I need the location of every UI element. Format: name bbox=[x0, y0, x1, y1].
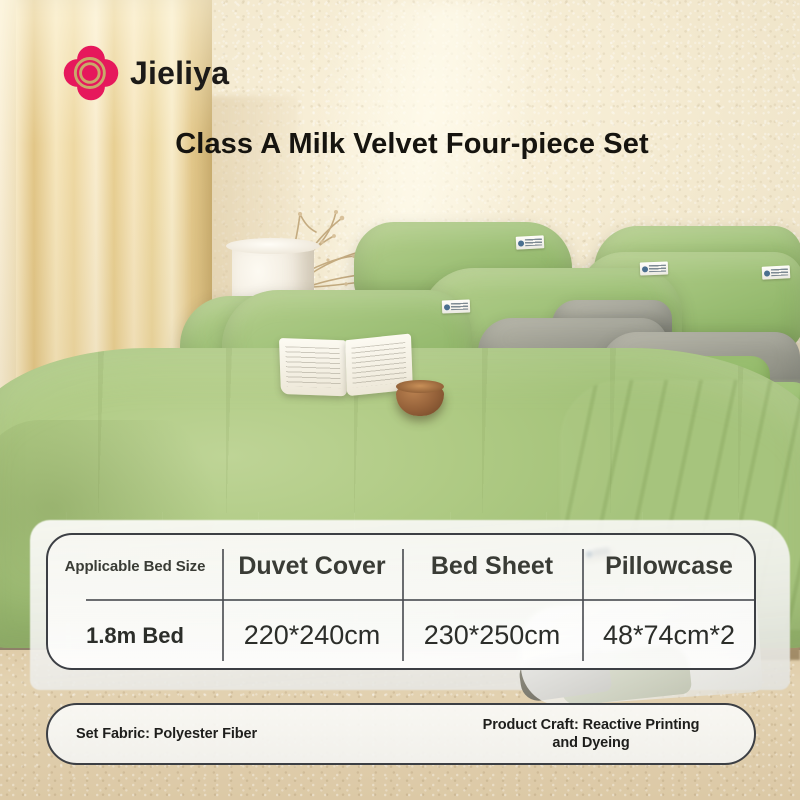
product-banner: Jieliya Class A Milk Velvet Four-piece S… bbox=[0, 0, 800, 800]
book-page-left bbox=[279, 338, 347, 396]
wooden-bowl-rim bbox=[396, 380, 444, 393]
table-row: 48*74cm*2 bbox=[582, 599, 756, 670]
tag-lines bbox=[525, 238, 542, 246]
table-column-divider bbox=[222, 549, 224, 661]
page-title: Class A Milk Velvet Four-piece Set bbox=[0, 128, 800, 161]
table-row: 230*250cm bbox=[402, 599, 582, 670]
product-craft-label: Product Craft: Reactive Printing and Dye… bbox=[476, 716, 706, 752]
table-column-divider bbox=[582, 549, 584, 661]
brand-tag-icon bbox=[762, 265, 791, 279]
brand-tag-icon bbox=[516, 235, 545, 249]
book-text-lines bbox=[351, 342, 406, 388]
brand-lockup: Jieliya bbox=[62, 42, 302, 104]
open-book-prop bbox=[279, 336, 413, 397]
table-header-duvet-cover: Duvet Cover bbox=[222, 535, 402, 599]
tag-lines bbox=[649, 265, 666, 273]
book-text-lines bbox=[285, 346, 340, 388]
tag-dot-icon bbox=[764, 270, 770, 276]
tag-dot-icon bbox=[518, 240, 524, 246]
table-header-bed-sheet: Bed Sheet bbox=[402, 535, 582, 599]
vase-rim bbox=[226, 238, 320, 254]
spec-table-panel: Applicable Bed Size Duvet Cover Bed Shee… bbox=[46, 533, 756, 670]
tag-dot-icon bbox=[444, 304, 450, 310]
table-row: 1.8m Bed bbox=[48, 599, 222, 670]
set-fabric-label: Set Fabric: Polyester Fiber bbox=[76, 726, 257, 742]
tag-dot-icon bbox=[642, 266, 648, 272]
tag-lines bbox=[771, 268, 788, 276]
flower-logo-icon bbox=[62, 44, 120, 102]
brand-name: Jieliya bbox=[130, 57, 229, 89]
table-row: 220*240cm bbox=[222, 599, 402, 670]
product-info-bar: Set Fabric: Polyester Fiber Product Craf… bbox=[46, 703, 756, 765]
brand-tag-icon bbox=[442, 300, 470, 314]
table-header-bed-size: Applicable Bed Size bbox=[48, 535, 222, 599]
table-column-divider bbox=[402, 549, 404, 661]
table-header-rule bbox=[86, 599, 756, 601]
spec-table-grid: Applicable Bed Size Duvet Cover Bed Shee… bbox=[48, 535, 754, 668]
table-header-pillowcase: Pillowcase bbox=[582, 535, 756, 599]
brand-tag-icon bbox=[640, 262, 668, 276]
tag-lines bbox=[451, 303, 468, 311]
